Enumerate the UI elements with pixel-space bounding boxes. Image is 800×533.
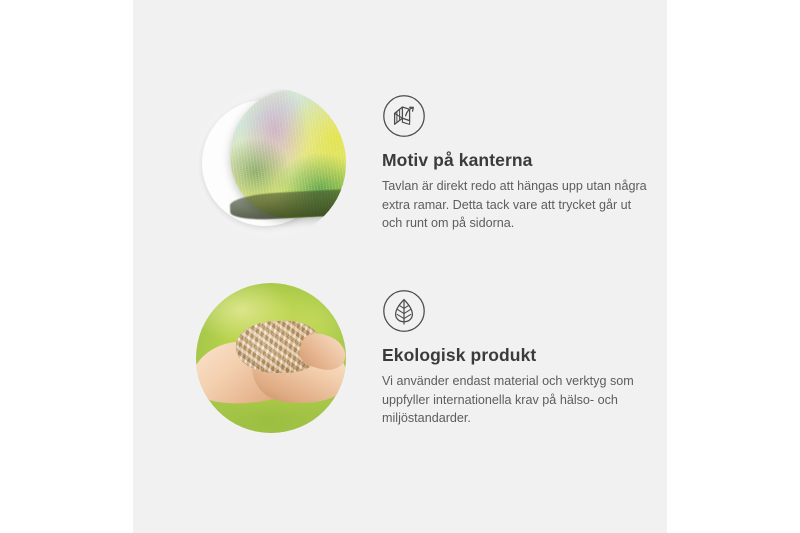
feature-title: Ekologisk produkt	[382, 345, 650, 366]
canvas-print-photo	[196, 88, 346, 238]
feature-block-edges: Motiv på kanterna Tavlan är direkt redo …	[196, 88, 650, 238]
feature-body: Vi använder endast material och verktyg …	[382, 372, 650, 428]
content-panel	[133, 0, 667, 533]
product-feature-infographic: Motiv på kanterna Tavlan är direkt redo …	[0, 0, 800, 533]
feature-title: Motiv på kanterna	[382, 150, 650, 171]
feature-block-eco: Ekologisk produkt Vi använder endast mat…	[196, 283, 650, 433]
canvas-wrapped-edge-icon	[382, 94, 426, 138]
leaf-icon	[382, 289, 426, 333]
wood-chips-in-hands-photo	[196, 283, 346, 433]
feature-body: Tavlan är direkt redo att hängas upp uta…	[382, 177, 650, 233]
feature-text-edges: Motiv på kanterna Tavlan är direkt redo …	[382, 88, 650, 233]
feature-text-eco: Ekologisk produkt Vi använder endast mat…	[382, 283, 650, 428]
